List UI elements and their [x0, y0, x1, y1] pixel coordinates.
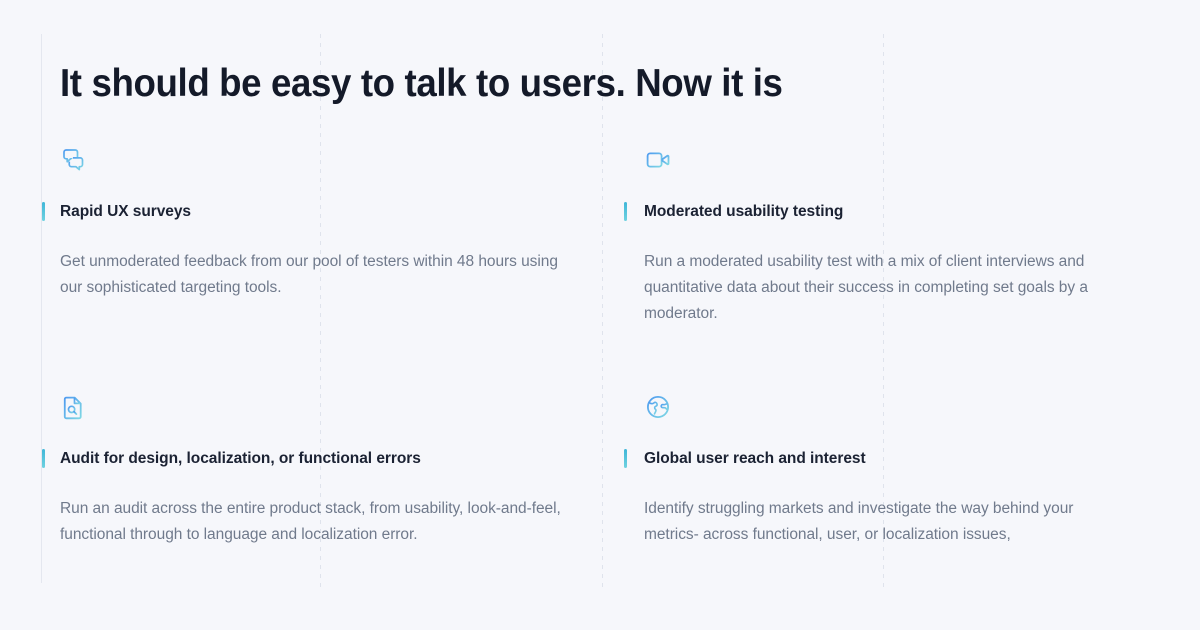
section-content: It should be easy to talk to users. Now …	[60, 0, 1150, 630]
feature-description: Get unmoderated feedback from our pool o…	[60, 249, 576, 301]
feature-title: Audit for design, localization, or funct…	[60, 449, 421, 469]
feature-description: Run an audit across the entire product s…	[60, 496, 576, 548]
feature-title: Moderated usability testing	[644, 202, 843, 222]
feature-description: Identify struggling markets and investig…	[644, 496, 1130, 548]
feature-title-row: Global user reach and interest	[644, 448, 1130, 470]
feature-grid: Rapid UX surveys Get unmoderated feedbac…	[60, 147, 1150, 563]
feature-title-row: Audit for design, localization, or funct…	[60, 448, 602, 470]
feature-card-audit: Audit for design, localization, or funct…	[60, 394, 622, 564]
section-heading: It should be easy to talk to users. Now …	[60, 60, 783, 108]
accent-bar	[42, 449, 45, 468]
accent-bar	[624, 449, 627, 468]
feature-title: Global user reach and interest	[644, 449, 866, 469]
video-camera-icon	[645, 147, 671, 173]
accent-bar	[42, 202, 45, 221]
feature-card-moderated-usability-testing: Moderated usability testing Run a modera…	[622, 147, 1150, 343]
feature-card-global-reach: Global user reach and interest Identify …	[622, 394, 1150, 564]
chat-bubbles-icon	[61, 147, 87, 173]
accent-bar	[624, 202, 627, 221]
grid-rule-left	[41, 34, 42, 583]
file-search-icon	[61, 394, 87, 420]
feature-title-row: Rapid UX surveys	[60, 201, 602, 223]
globe-icon	[645, 394, 671, 420]
feature-title-row: Moderated usability testing	[644, 201, 1130, 223]
feature-description: Run a moderated usability test with a mi…	[644, 249, 1130, 327]
feature-title: Rapid UX surveys	[60, 202, 191, 222]
feature-section: It should be easy to talk to users. Now …	[0, 0, 1200, 630]
feature-card-rapid-ux-surveys: Rapid UX surveys Get unmoderated feedbac…	[60, 147, 622, 343]
